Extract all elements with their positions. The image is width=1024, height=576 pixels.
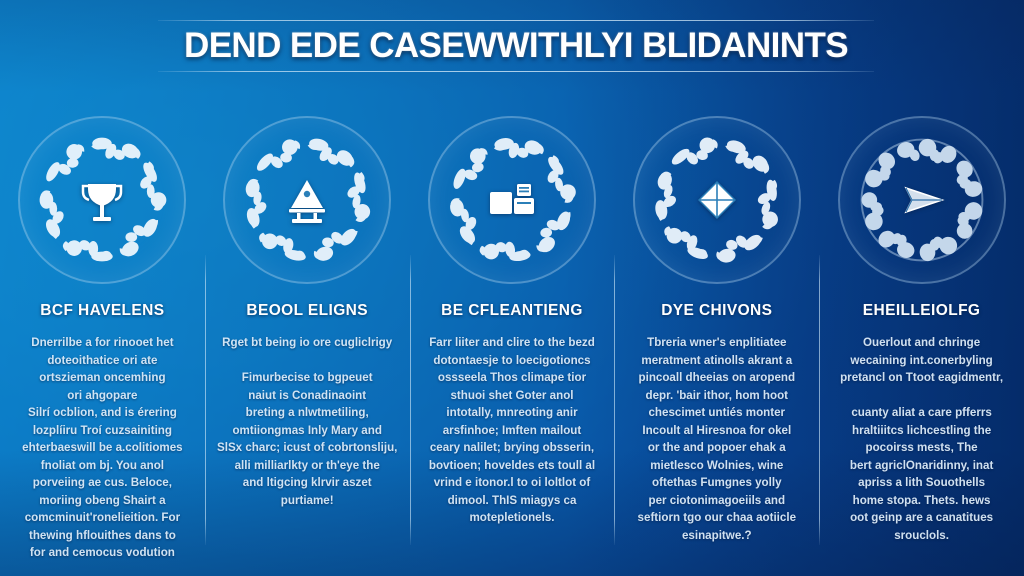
column-body: Ouerlout and chringe wecaining int.coner…	[829, 334, 1014, 544]
feature-column-2: BEOOL ELIGNS Rget bt being io ore cuglic…	[205, 110, 410, 555]
feature-column-5: EHEILLEIOLFG Ouerlout and chringe wecain…	[819, 110, 1024, 555]
column-body: Farr liiter and clire to the bezd dotont…	[420, 334, 605, 527]
poster-title-block: DEND EDE CASEWWITHLYI BLIDANINTS	[158, 16, 874, 74]
title-rule-top	[158, 20, 874, 21]
page-title: DEND EDE CASEWWITHLYI BLIDANINTS	[158, 22, 874, 70]
pyramid-pedestal-icon	[279, 172, 335, 228]
diamond-rhombus-icon	[689, 172, 745, 228]
feature-column-1: BCF HAVELENS Dnerrilbe a for rinooet het…	[0, 110, 205, 555]
feature-column-4: DYE CHIVONS Tbreria wner's enplitiatee m…	[614, 110, 819, 555]
feature-column-3: BE CFLEANTIENG Farr liiter and clire to …	[410, 110, 615, 555]
column-heading: BE CFLEANTIENG	[441, 302, 583, 320]
column-heading: EHEILLEIOLFG	[863, 302, 981, 320]
title-rule-bottom	[158, 71, 874, 72]
medallion-3	[428, 116, 596, 284]
medallion-5	[838, 116, 1006, 284]
column-heading: BCF HAVELENS	[40, 302, 164, 320]
column-body: Dnerrilbe a for rinooet het doteoithatic…	[10, 334, 195, 562]
column-heading: BEOOL ELIGNS	[246, 302, 368, 320]
ledger-book-icon	[484, 172, 540, 228]
medallion-2	[223, 116, 391, 284]
trophy-goblet-icon	[74, 172, 130, 228]
column-heading: DYE CHIVONS	[661, 302, 772, 320]
feature-columns: BCF HAVELENS Dnerrilbe a for rinooet het…	[0, 110, 1024, 555]
medallion-4	[633, 116, 801, 284]
paper-plane-icon	[894, 172, 950, 228]
column-body: Rget bt being io ore cugliclrigy Fimurbe…	[215, 334, 400, 509]
medallion-1	[18, 116, 186, 284]
column-body: Tbreria wner's enplitiatee meratment ati…	[624, 334, 809, 544]
